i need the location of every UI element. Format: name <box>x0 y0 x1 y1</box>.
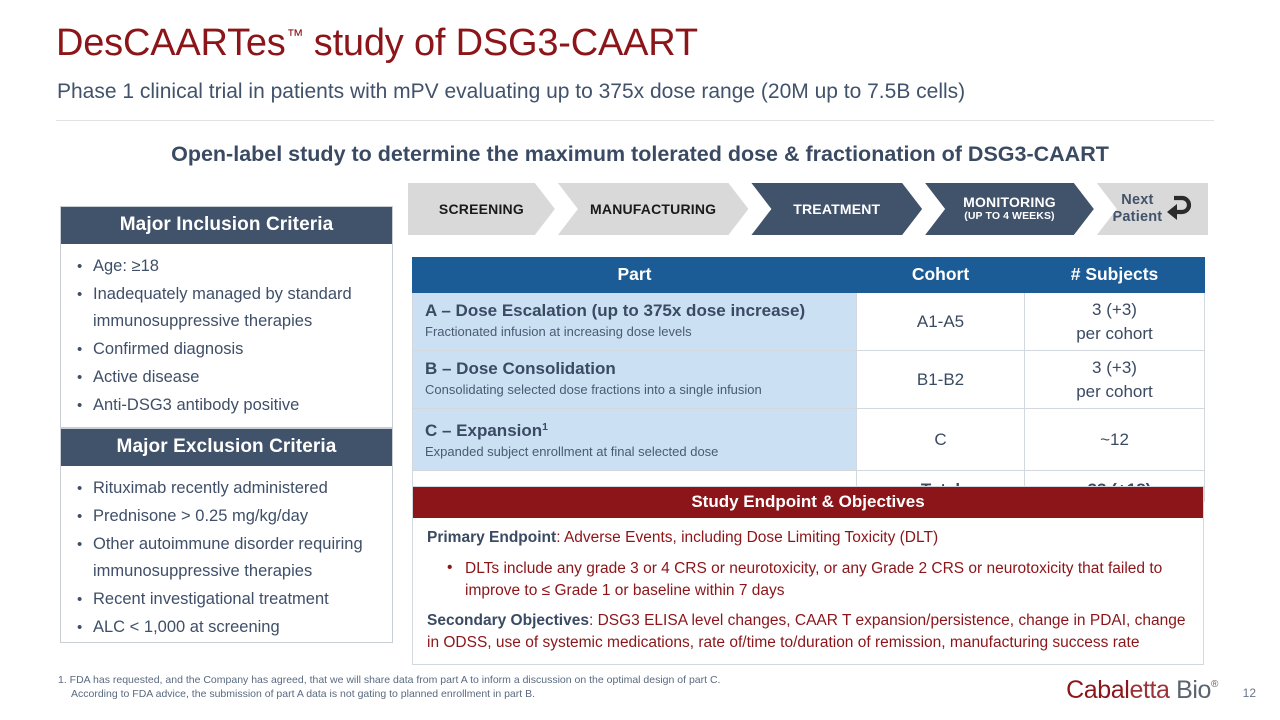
exclusion-criteria-header: Major Exclusion Criteria <box>61 429 392 466</box>
next-patient-line2: Patient <box>1113 209 1163 226</box>
subjects-cell-c: ~12 <box>1025 409 1205 471</box>
header-divider <box>56 120 1214 121</box>
page-number: 12 <box>1243 686 1256 700</box>
part-subtitle: Consolidating selected dose fractions in… <box>425 381 856 399</box>
footnote-marker: 1 <box>542 421 548 433</box>
process-step-treatment: TREATMENT <box>751 183 922 235</box>
part-title-text: A – Dose Escalation (up to 375x dose inc… <box>425 301 805 320</box>
endpoints-body: Primary Endpoint: Adverse Events, includ… <box>413 518 1203 664</box>
column-header-part: Part <box>413 258 857 293</box>
page-title: DesCAARTes™ study of DSG3-CAART <box>56 22 698 65</box>
list-item: Active disease <box>75 364 382 391</box>
footnote-line1: 1. FDA has requested, and the Company ha… <box>58 674 720 686</box>
table-row: C – Expansion1 Expanded subject enrollme… <box>413 409 1205 471</box>
process-step-label: MONITORING <box>963 195 1056 210</box>
registered-symbol: ® <box>1211 679 1218 690</box>
table-row: B – Dose Consolidation Consolidating sel… <box>413 351 1205 409</box>
process-step-label: MANUFACTURING <box>590 202 716 217</box>
inclusion-criteria-panel: Major Inclusion Criteria Age: ≥18 Inadeq… <box>60 206 393 428</box>
process-step-screening: SCREENING <box>408 183 555 235</box>
primary-endpoint-line: Primary Endpoint: Adverse Events, includ… <box>427 527 1189 549</box>
list-item: Other autoimmune disorder requiring immu… <box>75 531 382 585</box>
secondary-objectives-label: Secondary Objectives <box>427 612 589 629</box>
study-design-table: Part Cohort # Subjects A – Dose Escalati… <box>412 257 1205 502</box>
column-header-subjects: # Subjects <box>1025 258 1205 293</box>
process-step-sublabel: (UP TO 4 WEEKS) <box>963 210 1056 223</box>
list-item: Recent investigational treatment <box>75 586 382 613</box>
return-arrow-icon <box>1166 194 1192 224</box>
part-title-text: C – Expansion <box>425 421 542 440</box>
part-cell-a: A – Dose Escalation (up to 375x dose inc… <box>413 293 857 351</box>
part-title: C – Expansion1 <box>425 416 856 442</box>
next-patient-line1: Next <box>1113 192 1163 209</box>
subjects-line2: per cohort <box>1026 322 1203 346</box>
logo-part3: Bio <box>1170 676 1211 704</box>
subjects-line1: 3 (+3) <box>1026 356 1203 380</box>
logo-part2: etta <box>1129 676 1169 704</box>
list-item: Rituximab recently administered <box>75 475 382 502</box>
list-item: Anti-DSG3 antibody positive <box>75 392 382 419</box>
table-row: A – Dose Escalation (up to 375x dose inc… <box>413 293 1205 351</box>
list-item: ALC < 1,000 at screening <box>75 614 382 641</box>
list-item: Confirmed diagnosis <box>75 336 382 363</box>
part-title: A – Dose Escalation (up to 375x dose inc… <box>425 300 856 322</box>
trademark-symbol: ™ <box>287 26 304 45</box>
part-title: B – Dose Consolidation <box>425 358 856 380</box>
process-flow: SCREENING MANUFACTURING TREATMENT MONITO… <box>408 183 1208 235</box>
part-cell-b: B – Dose Consolidation Consolidating sel… <box>413 351 857 409</box>
part-cell-c: C – Expansion1 Expanded subject enrollme… <box>413 409 857 471</box>
footnote: 1. FDA has requested, and the Company ha… <box>58 673 858 701</box>
part-title-text: B – Dose Consolidation <box>425 359 616 378</box>
process-step-next-patient: Next Patient <box>1097 183 1208 235</box>
part-subtitle: Fractionated infusion at increasing dose… <box>425 323 856 341</box>
primary-endpoint-text: : Adverse Events, including Dose Limitin… <box>556 529 938 546</box>
endpoints-header: Study Endpoint & Objectives <box>413 487 1203 518</box>
table-header-row: Part Cohort # Subjects <box>413 258 1205 293</box>
list-item: Prednisone > 0.25 mg/kg/day <box>75 503 382 530</box>
inclusion-criteria-list: Age: ≥18 Inadequately managed by standar… <box>61 244 392 419</box>
logo-part1: Cabal <box>1066 676 1129 704</box>
dlt-bullet: DLTs include any grade 3 or 4 CRS or neu… <box>427 558 1189 602</box>
secondary-objectives-line: Secondary Objectives: DSG3 ELISA level c… <box>427 610 1189 654</box>
page-title-main: DesCAARTes <box>56 22 286 64</box>
subjects-cell-a: 3 (+3) per cohort <box>1025 293 1205 351</box>
footnote-line2: According to FDA advice, the submission … <box>58 687 858 701</box>
list-item: Age: ≥18 <box>75 253 382 280</box>
cohort-cell-c: C <box>857 409 1025 471</box>
column-header-cohort: Cohort <box>857 258 1025 293</box>
section-heading: Open-label study to determine the maximu… <box>0 142 1280 167</box>
process-step-label: SCREENING <box>439 202 524 217</box>
exclusion-criteria-panel: Major Exclusion Criteria Rituximab recen… <box>60 428 393 643</box>
subjects-line2: per cohort <box>1026 380 1203 404</box>
page-title-rest: study of DSG3-CAART <box>303 22 697 64</box>
subjects-line1: ~12 <box>1026 428 1203 452</box>
subjects-cell-b: 3 (+3) per cohort <box>1025 351 1205 409</box>
page-subtitle: Phase 1 clinical trial in patients with … <box>57 80 965 104</box>
process-step-manufacturing: MANUFACTURING <box>558 183 749 235</box>
process-step-monitoring: MONITORING (UP TO 4 WEEKS) <box>925 183 1094 235</box>
inclusion-criteria-header: Major Inclusion Criteria <box>61 207 392 244</box>
primary-endpoint-label: Primary Endpoint <box>427 529 556 546</box>
part-subtitle: Expanded subject enrollment at final sel… <box>425 443 856 461</box>
exclusion-criteria-list: Rituximab recently administered Predniso… <box>61 466 392 641</box>
cohort-cell-b: B1-B2 <box>857 351 1025 409</box>
study-endpoints-panel: Study Endpoint & Objectives Primary Endp… <box>412 486 1204 665</box>
company-logo: Cabaletta Bio® <box>1066 676 1218 705</box>
cohort-cell-a: A1-A5 <box>857 293 1025 351</box>
list-item: Inadequately managed by standard immunos… <box>75 281 382 335</box>
process-step-label: TREATMENT <box>793 202 880 217</box>
subjects-line1: 3 (+3) <box>1026 298 1203 322</box>
